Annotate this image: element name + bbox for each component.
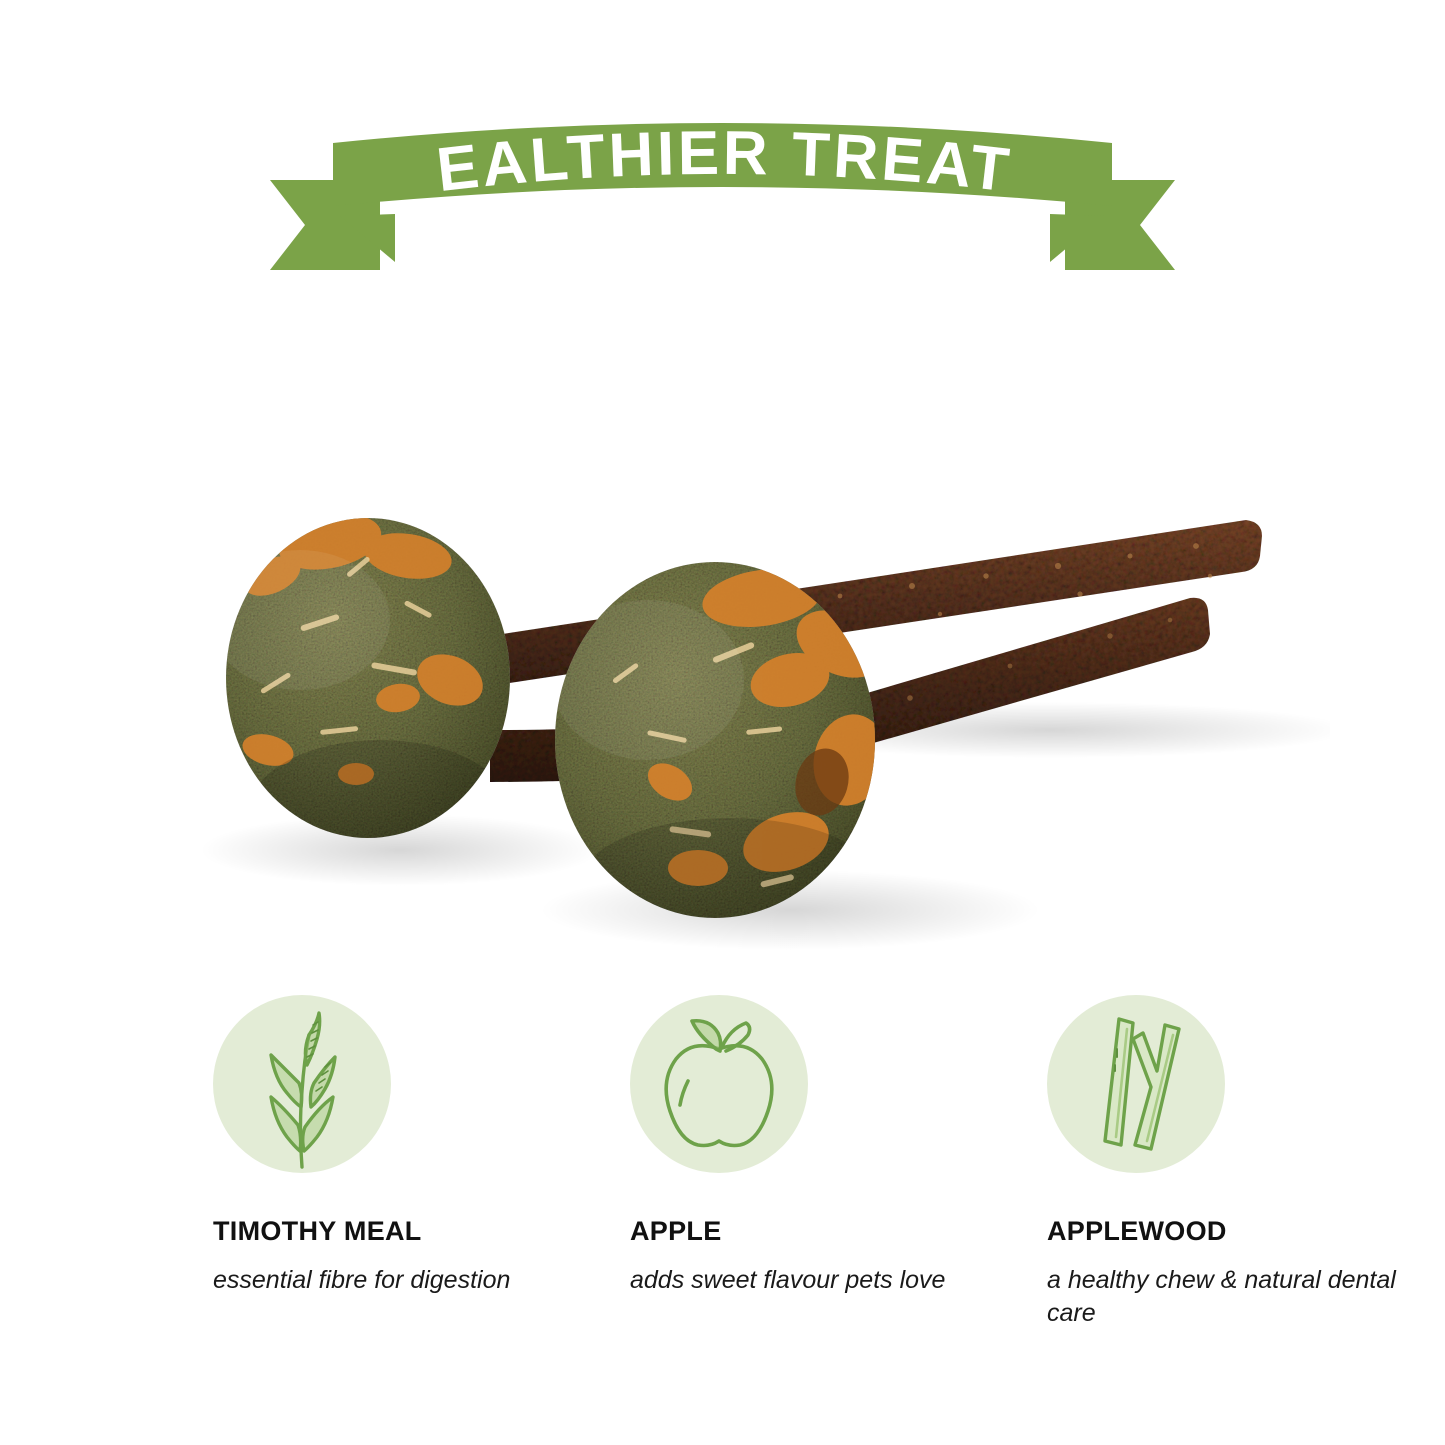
apple-icon-circle — [630, 995, 808, 1173]
timothy-meal-icon-circle — [213, 995, 391, 1173]
feature-title: TIMOTHY MEAL — [213, 1217, 608, 1247]
feature-description: a healthy chew & natural dental care — [1047, 1264, 1407, 1332]
applewood-sticks-icon — [1047, 995, 1225, 1173]
treat-balls-illustration — [150, 430, 1330, 950]
feature-description: essential fibre for digestion — [213, 1264, 543, 1298]
feature-applewood: APPLEWOOD a healthy chew & natural denta… — [1047, 995, 1442, 1331]
feature-apple: APPLE adds sweet flavour pets love — [630, 995, 1025, 1297]
feature-title: APPLE — [630, 1217, 1025, 1247]
applewood-icon-circle — [1047, 995, 1225, 1173]
feature-timothy-meal: TIMOTHY MEAL essential fibre for digesti… — [213, 995, 608, 1297]
healthier-treats-banner: HEALTHIER TREATS — [0, 0, 1445, 300]
timothy-grass-icon — [213, 995, 391, 1173]
feature-description: adds sweet flavour pets love — [630, 1264, 960, 1298]
product-infographic: HEALTHIER TREATS — [0, 0, 1445, 1445]
banner-title: HEALTHIER TREATS — [0, 0, 1015, 206]
feature-list: TIMOTHY MEAL essential fibre for digesti… — [213, 995, 1445, 1395]
product-photo — [150, 430, 1330, 950]
apple-icon — [630, 995, 808, 1173]
banner-ribbon-graphic: HEALTHIER TREATS — [0, 0, 1445, 300]
feature-title: APPLEWOOD — [1047, 1217, 1442, 1247]
